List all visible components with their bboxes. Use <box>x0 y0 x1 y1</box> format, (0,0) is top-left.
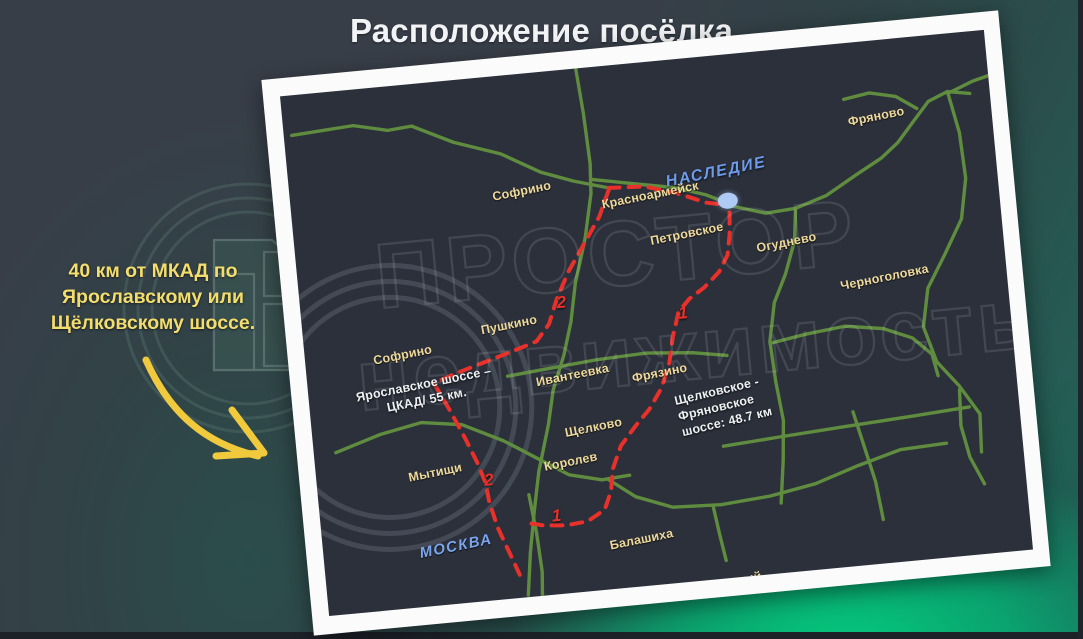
route-lines <box>417 177 762 589</box>
background-bottom-strip <box>0 632 1083 639</box>
curved-arrow-icon <box>140 352 290 467</box>
road-network <box>280 30 1033 616</box>
background-right-strip <box>1078 0 1083 639</box>
callout-text: 40 км от МКАД по Ярославскому или Щёлков… <box>22 258 284 336</box>
green-roads <box>287 30 1033 615</box>
callout-line-2: Ярославскому или <box>22 284 284 310</box>
map-photo-frame: ПРОСТОР недвижимость НАСЛЕДИЕ Софрино Кр… <box>261 10 1050 635</box>
map-canvas[interactable]: ПРОСТОР недвижимость НАСЛЕДИЕ Софрино Кр… <box>280 30 1033 616</box>
callout-line-3: Щёлковскому шоссе. <box>22 310 284 336</box>
callout-line-1: 40 км от МКАД по <box>22 258 284 284</box>
